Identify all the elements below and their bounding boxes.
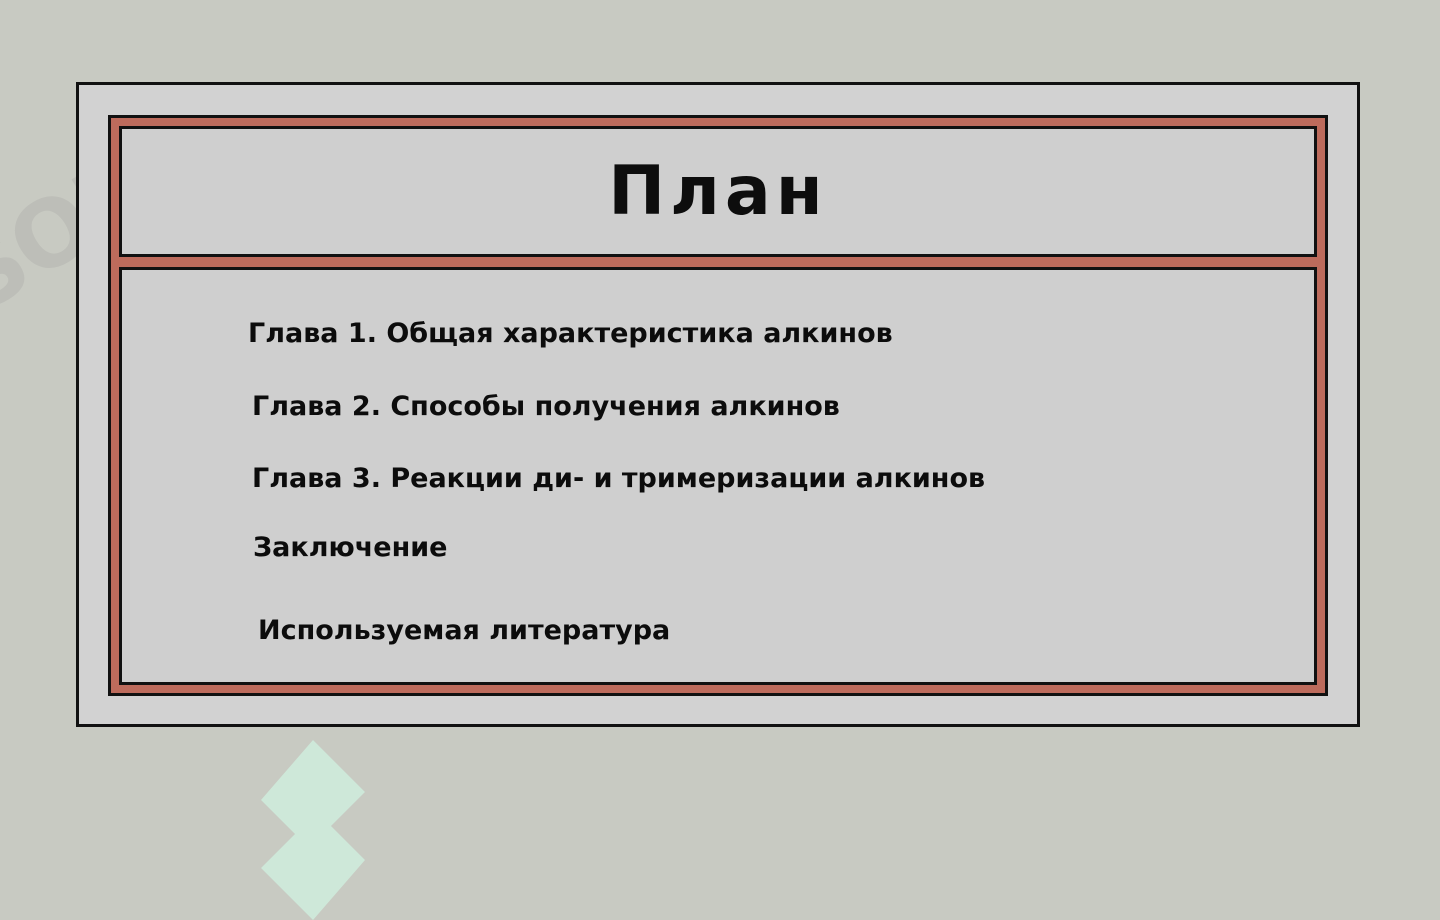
content-panel: Глава 1. Общая характеристика алкинов Гл… xyxy=(119,267,1317,685)
list-item: Заключение xyxy=(253,532,1314,563)
watermark-text: SOFF xyxy=(296,0,575,14)
watermark-instance: SOFF xyxy=(300,0,571,8)
title-panel: План xyxy=(119,126,1317,257)
watermark-text: SOFF xyxy=(1006,0,1285,14)
list-item: Глава 2. Способы получения алкинов xyxy=(252,391,1314,422)
list-item: Используемая литература xyxy=(258,615,1314,646)
list-item: Глава 3. Реакции ди- и тримеризации алки… xyxy=(252,463,1314,494)
page-title: План xyxy=(608,158,828,226)
watermark-instance: SOFF xyxy=(1010,0,1281,8)
slide-frame: План Глава 1. Общая характеристика алкин… xyxy=(76,82,1360,727)
list-item: Глава 1. Общая характеристика алкинов xyxy=(248,318,1314,349)
accent-band: План Глава 1. Общая характеристика алкин… xyxy=(108,115,1328,696)
soff-zigzag-logo-icon xyxy=(253,740,373,920)
